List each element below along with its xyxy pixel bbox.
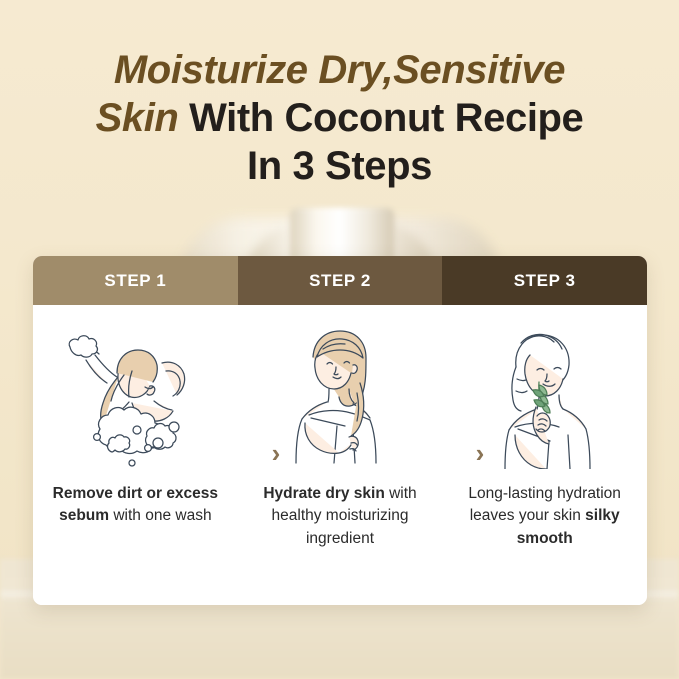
step-1-caption-regular: with one wash — [113, 507, 211, 524]
step-1-caption: Remove dirt or excess sebum with one was… — [43, 483, 228, 528]
step-header-3: STEP 3 — [442, 256, 647, 305]
page-title-line-2: Skin With Coconut Recipe — [0, 94, 679, 142]
step-2-illustration — [265, 319, 415, 469]
step-2-caption-bold: Hydrate dry skin — [263, 485, 384, 502]
chevron-right-icon-1: › — [266, 440, 286, 466]
page-title-rest-2: With Coconut Recipe — [178, 96, 583, 140]
page-title: Moisturize Dry,Sensitive Skin With Cocon… — [0, 46, 679, 190]
page-title-line-1: Moisturize Dry,Sensitive — [0, 46, 679, 94]
step-body-strip: Remove dirt or excess sebum with one was… — [33, 305, 647, 605]
step-3-illustration — [470, 319, 620, 469]
step-header-1-label: STEP 1 — [104, 271, 166, 291]
step-header-3-label: STEP 3 — [514, 271, 576, 291]
page-title-emphasis-1: Moisturize Dry,Sensitive — [114, 48, 565, 92]
step-header-strip: STEP 1 STEP 2 STEP 3 — [33, 256, 647, 305]
step-header-2-label: STEP 2 — [309, 271, 371, 291]
steps-card: STEP 1 STEP 2 STEP 3 — [33, 256, 647, 605]
chevron-right-icon-2: › — [470, 440, 490, 466]
step-header-2: STEP 2 — [238, 256, 443, 305]
step-1-illustration — [46, 319, 224, 469]
page-title-emphasis-2: Skin — [96, 96, 179, 140]
step-3-caption: Long-lasting hydration leaves your skin … — [452, 483, 637, 550]
step-column-1: Remove dirt or excess sebum with one was… — [33, 305, 238, 605]
step-header-1: STEP 1 — [33, 256, 238, 305]
page-title-line-3: In 3 Steps — [0, 142, 679, 190]
step-2-caption: Hydrate dry skin with healthy moisturizi… — [248, 483, 433, 550]
